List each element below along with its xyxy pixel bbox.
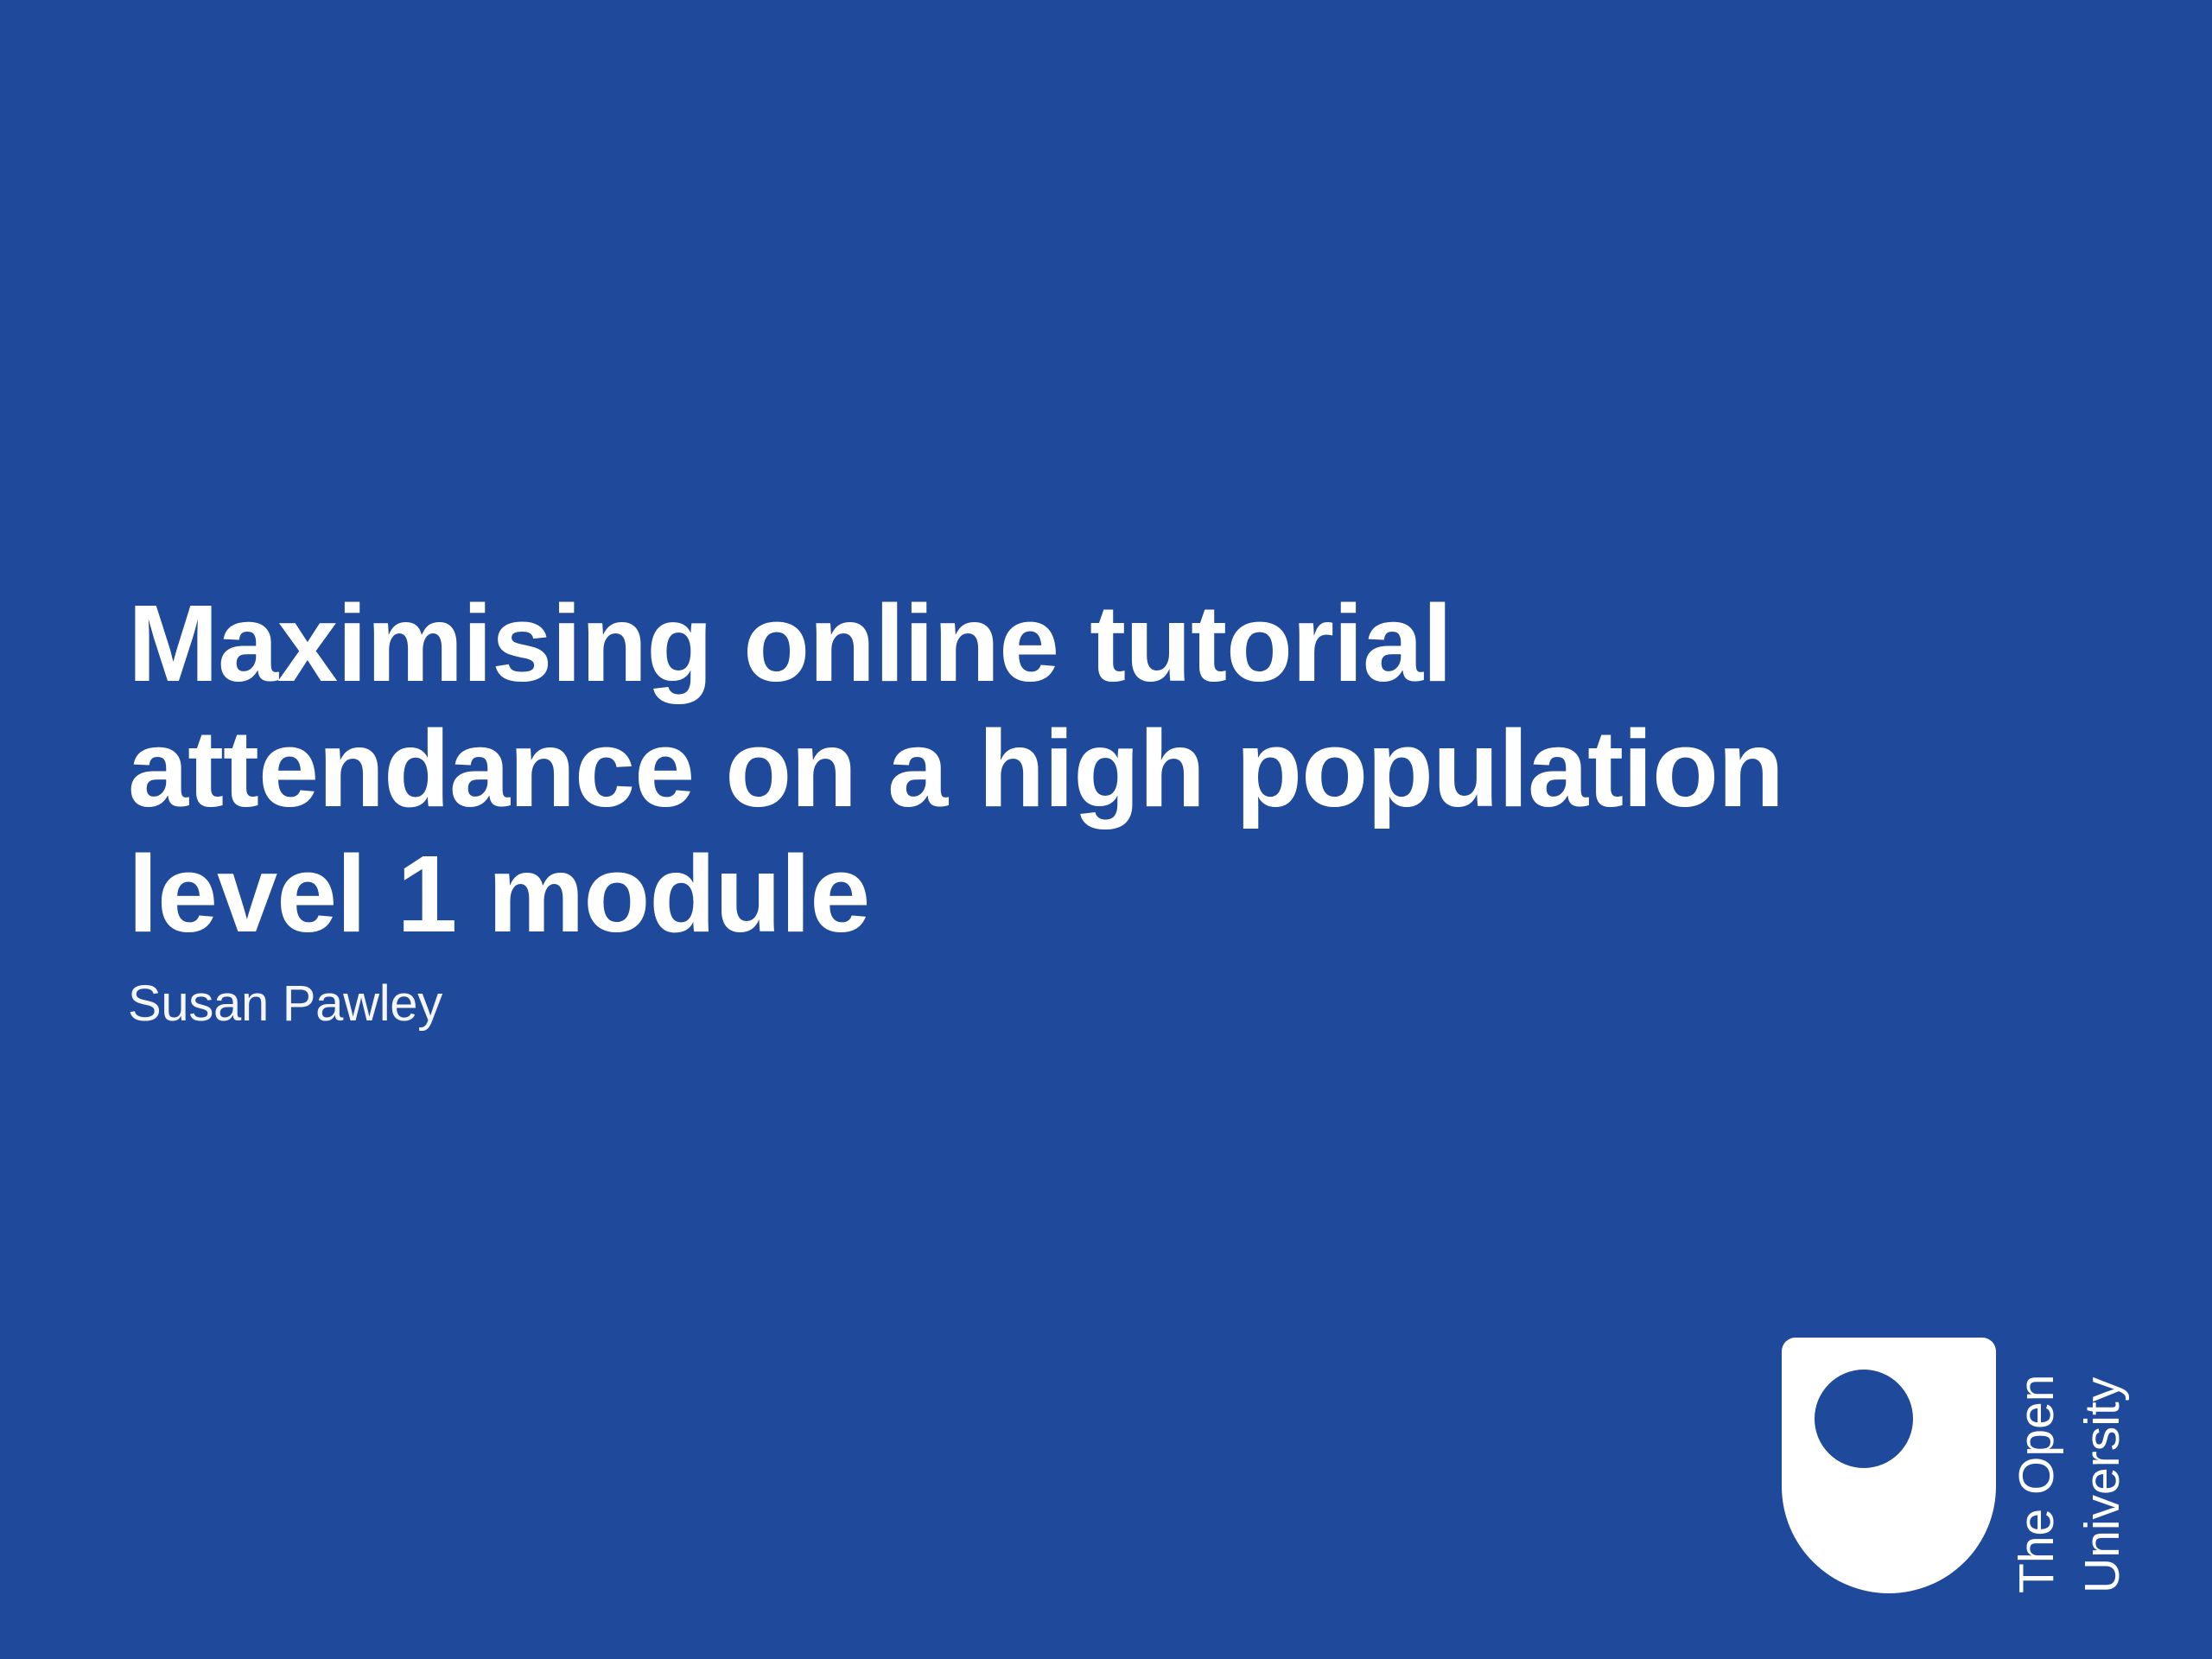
- ou-dot-shape: [1815, 1370, 1913, 1468]
- title-slide: Maximising online tutorial attendance on…: [0, 0, 2212, 1659]
- open-university-logo: The Open University: [1782, 1338, 2155, 1593]
- title-block: Maximising online tutorial attendance on…: [128, 581, 1865, 1033]
- ou-wordmark-line-1: The Open: [2012, 1375, 2062, 1594]
- ou-wordmark: The Open University: [2013, 1338, 2155, 1593]
- author-name: Susan Pawley: [128, 957, 1865, 1033]
- ou-wordmark-line-2: University: [2078, 1377, 2127, 1593]
- ou-shield-icon: [1782, 1338, 1996, 1593]
- page-title: Maximising online tutorial attendance on…: [128, 581, 1865, 957]
